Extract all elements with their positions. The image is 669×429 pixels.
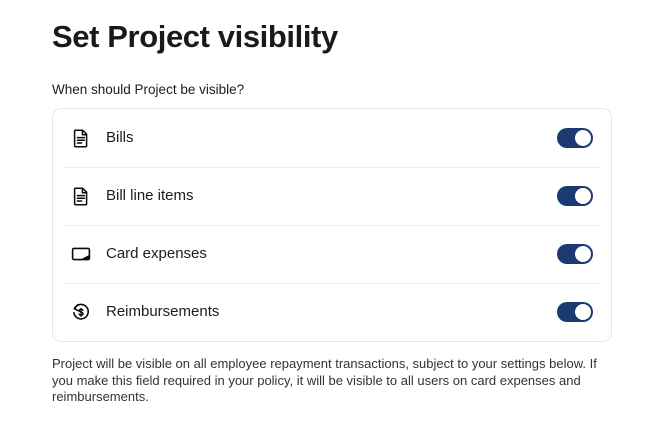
toggle-bills[interactable]: [557, 128, 593, 148]
toggle-knob: [575, 188, 591, 204]
visibility-options-card: Bills Bill line items: [52, 108, 612, 342]
toggle-reimbursements[interactable]: [557, 302, 593, 322]
refund-dollar-icon: [70, 301, 92, 323]
toggle-card-expenses[interactable]: [557, 244, 593, 264]
option-label: Bill line items: [106, 186, 557, 206]
page-title: Set Project visibility: [52, 18, 338, 56]
option-label: Card expenses: [106, 244, 557, 264]
option-row-bill-line-items[interactable]: Bill line items: [53, 167, 611, 225]
option-row-bills[interactable]: Bills: [53, 109, 611, 167]
credit-card-icon: [70, 243, 92, 265]
page-subtitle: When should Project be visible?: [52, 81, 244, 99]
toggle-bill-line-items[interactable]: [557, 186, 593, 206]
toggle-knob: [575, 304, 591, 320]
visibility-settings-page: Set Project visibility When should Proje…: [0, 0, 669, 429]
option-label: Bills: [106, 128, 557, 148]
document-icon: [70, 185, 92, 207]
option-row-card-expenses[interactable]: Card expenses: [53, 225, 611, 283]
toggle-knob: [575, 130, 591, 146]
visibility-footnote: Project will be visible on all employee …: [52, 356, 600, 406]
option-row-reimbursements[interactable]: Reimbursements: [53, 283, 611, 341]
option-label: Reimbursements: [106, 302, 557, 322]
toggle-knob: [575, 246, 591, 262]
document-icon: [70, 127, 92, 149]
